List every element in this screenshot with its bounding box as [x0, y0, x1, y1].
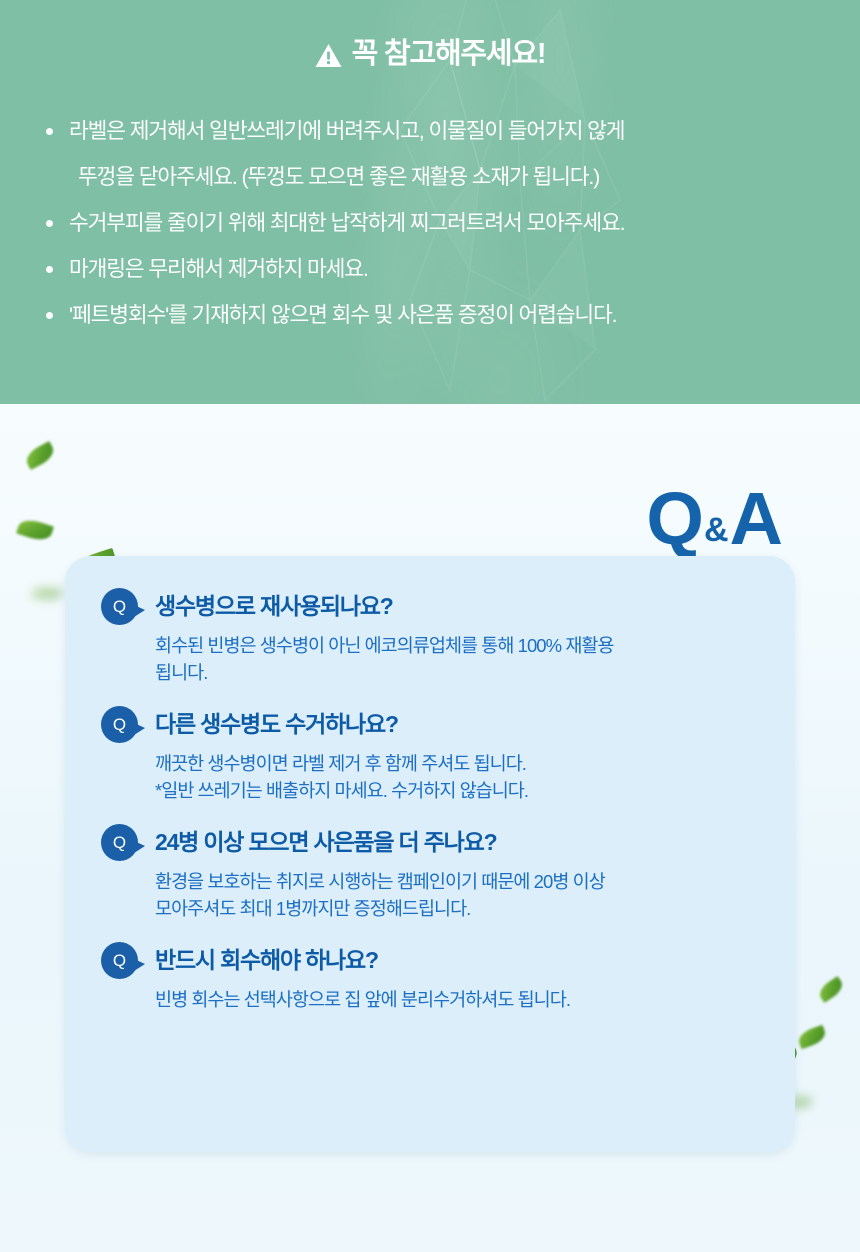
qa-answer: 깨끗한 생수병이면 라벨 제거 후 함께 주셔도 됩니다. *일반 쓰레기는 배…	[101, 743, 767, 804]
qa-question-row[interactable]: Q 다른 생수병도 수거하나요?	[101, 706, 767, 743]
notice-list-item: 라벨은 제거해서 일반쓰레기에 버려주시고, 이물질이 들어가지 않게 뚜껑을 …	[34, 108, 829, 200]
qa-answer-line: 깨끗한 생수병이면 라벨 제거 후 함께 주셔도 됩니다.	[155, 750, 767, 777]
qa-answer: 회수된 빈병은 생수병이 아닌 에코의류업체를 통해 100% 재활용 됩니다.	[101, 625, 767, 686]
notice-header: 꼭 참고해주세요!	[0, 40, 860, 69]
q-badge-icon: Q	[101, 942, 138, 979]
leaf-icon	[816, 976, 846, 1003]
qa-item[interactable]: Q 반드시 회수해야 하나요? 빈병 회수는 선택사항으로 집 앞에 분리수거하…	[101, 942, 767, 1013]
notice-item-line1: 마개링은 무리해서 제거하지 마세요.	[69, 257, 368, 281]
qa-question-text: 생수병으로 재사용되나요?	[141, 593, 393, 621]
notice-section: 꼭 참고해주세요! 라벨은 제거해서 일반쓰레기에 버려주시고, 이물질이 들어…	[0, 0, 860, 404]
notice-list-item: '페트병회수'를 기재하지 않으면 회수 및 사은품 증정이 어렵습니다.	[34, 292, 829, 338]
notice-title: 꼭 참고해주세요!	[352, 40, 546, 69]
qa-item[interactable]: Q 생수병으로 재사용되나요? 회수된 빈병은 생수병이 아닌 에코의류업체를 …	[101, 588, 767, 686]
qa-answer-line: 모아주셔도 최대 1병까지만 증정해드립니다.	[155, 895, 767, 922]
warning-triangle-icon	[315, 43, 342, 68]
notice-list-item: 수거부피를 줄이기 위해 최대한 납작하게 찌그러트려서 모아주세요.	[34, 200, 829, 246]
qa-answer-line: 회수된 빈병은 생수병이 아닌 에코의류업체를 통해 100% 재활용	[155, 632, 767, 659]
qa-item[interactable]: Q 24병 이상 모으면 사은품을 더 주나요? 환경을 보호하는 취지로 시행…	[101, 824, 767, 922]
qa-logo-q: Q	[646, 477, 703, 560]
notice-list-item: 마개링은 무리해서 제거하지 마세요.	[34, 246, 829, 292]
notice-item-line1: '페트병회수'를 기재하지 않으면 회수 및 사은품 증정이 어렵습니다.	[69, 303, 617, 327]
qa-question-row[interactable]: Q 반드시 회수해야 하나요?	[101, 942, 767, 979]
leaf-icon	[23, 441, 57, 470]
qa-answer: 환경을 보호하는 취지로 시행하는 캠페인이기 때문에 20병 이상 모아주셔도…	[101, 861, 767, 922]
notice-item-line2: 뚜껑을 닫아주세요. (뚜껑도 모으면 좋은 재활용 소재가 됩니다.)	[69, 154, 829, 200]
notice-item-line1: 라벨은 제거해서 일반쓰레기에 버려주시고, 이물질이 들어가지 않게	[69, 119, 624, 143]
qa-question-text: 다른 생수병도 수거하나요?	[141, 711, 398, 739]
qa-answer-line: 환경을 보호하는 취지로 시행하는 캠페인이기 때문에 20병 이상	[155, 868, 767, 895]
qa-logo-a: A	[730, 477, 782, 560]
qa-question-row[interactable]: Q 생수병으로 재사용되나요?	[101, 588, 767, 625]
qa-answer-line: *일반 쓰레기는 배출하지 마세요. 수거하지 않습니다.	[155, 777, 767, 804]
qa-item-list: Q 생수병으로 재사용되나요? 회수된 빈병은 생수병이 아닌 에코의류업체를 …	[101, 588, 767, 1013]
q-badge-icon: Q	[101, 706, 138, 743]
leaf-icon	[31, 585, 63, 602]
qa-panel: Q 생수병으로 재사용되나요? 회수된 빈병은 생수병이 아닌 에코의류업체를 …	[65, 556, 795, 1152]
qa-question-row[interactable]: Q 24병 이상 모으면 사은품을 더 주나요?	[101, 824, 767, 861]
leaf-icon	[16, 516, 54, 544]
qa-logo: Q&A	[646, 482, 782, 556]
qa-question-text: 24병 이상 모으면 사은품을 더 주나요?	[141, 829, 496, 857]
q-badge-icon: Q	[101, 824, 138, 861]
qa-logo-amp: &	[704, 511, 729, 549]
leaf-icon	[796, 1025, 828, 1050]
qa-item[interactable]: Q 다른 생수병도 수거하나요? 깨끗한 생수병이면 라벨 제거 후 함께 주셔…	[101, 706, 767, 804]
notice-bullet-list: 라벨은 제거해서 일반쓰레기에 버려주시고, 이물질이 들어가지 않게 뚜껑을 …	[34, 108, 829, 338]
qa-section: Q&A Q 생수병으로 재사용되나요? 회수된 빈병은 생수병이 아닌 에코의류…	[0, 404, 860, 1252]
qa-answer-line: 빈병 회수는 선택사항으로 집 앞에 분리수거하셔도 됩니다.	[155, 986, 767, 1013]
notice-item-line1: 수거부피를 줄이기 위해 최대한 납작하게 찌그러트려서 모아주세요.	[69, 211, 624, 235]
q-badge-icon: Q	[101, 588, 138, 625]
qa-answer: 빈병 회수는 선택사항으로 집 앞에 분리수거하셔도 됩니다.	[101, 979, 767, 1013]
qa-answer-line: 됩니다.	[155, 659, 767, 686]
qa-question-text: 반드시 회수해야 하나요?	[141, 947, 378, 975]
